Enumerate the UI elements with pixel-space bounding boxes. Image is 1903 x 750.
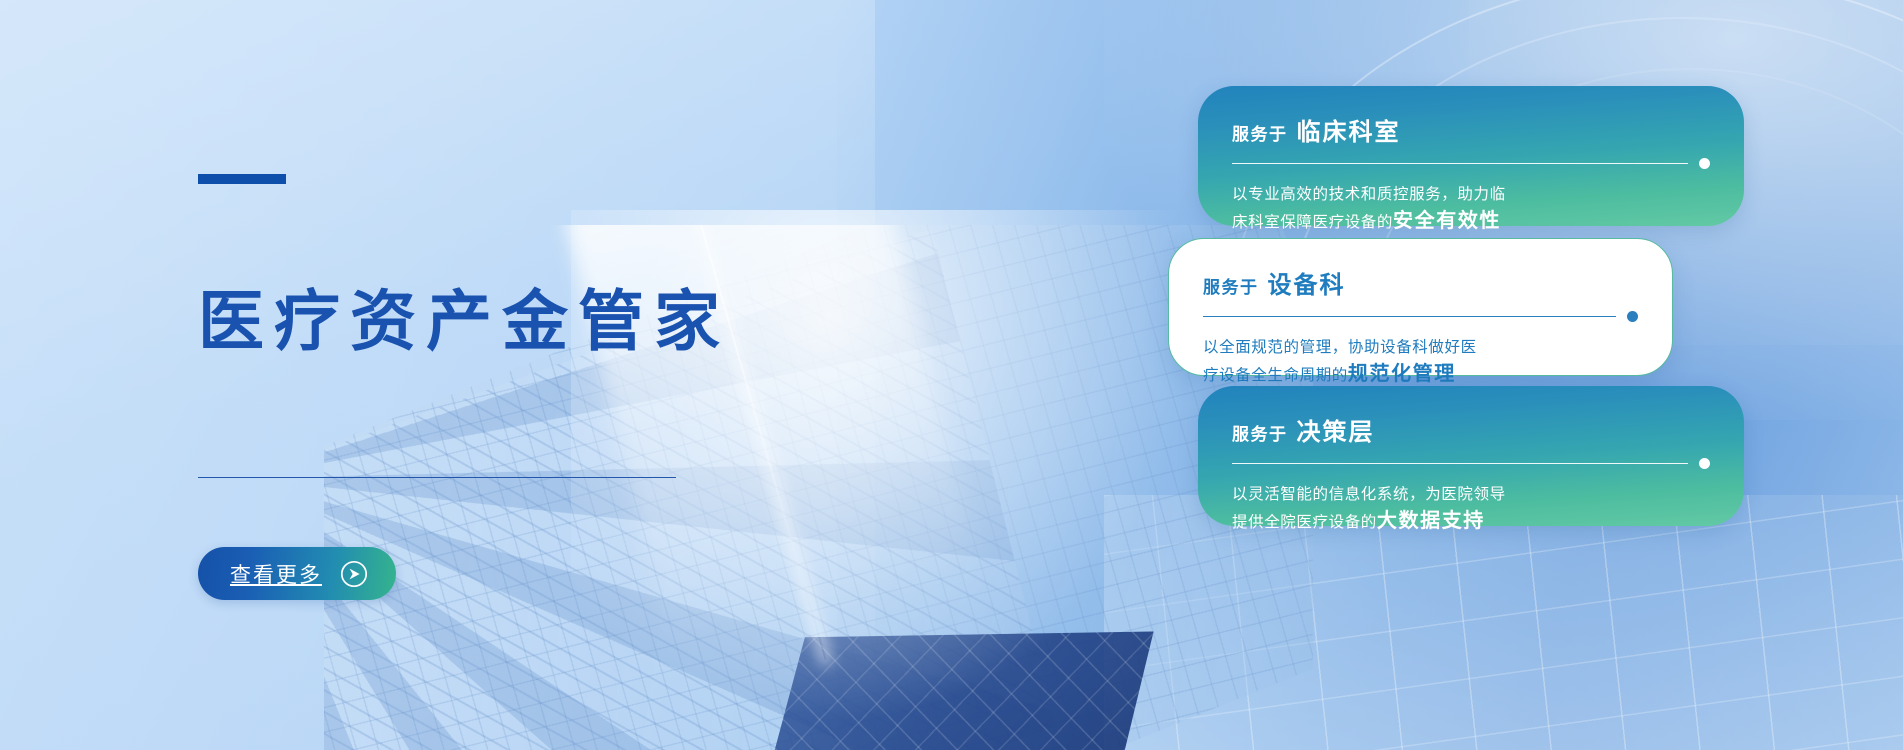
- card-rule: [1232, 158, 1710, 169]
- card-rule-line: [1232, 163, 1688, 164]
- card-body-line-1: 以专业高效的技术和质控服务，助力临: [1232, 182, 1710, 208]
- card-body-line-2: 床科室保障医疗设备的安全有效性: [1232, 208, 1710, 236]
- card-body-emphasis: 安全有效性: [1393, 210, 1501, 232]
- card-body-emphasis: 规范化管理: [1348, 363, 1456, 385]
- card-rule: [1203, 311, 1638, 322]
- card-rule-line: [1203, 316, 1616, 317]
- view-more-label: 查看更多: [230, 559, 322, 589]
- card-body-emphasis: 大数据支持: [1377, 510, 1485, 532]
- arrow-right-circle-icon: [340, 560, 368, 588]
- horizontal-divider: [198, 477, 676, 478]
- card-heading: 服务于 临床科室: [1232, 112, 1710, 147]
- accent-dash: [198, 174, 286, 184]
- card-prefix: 服务于: [1232, 420, 1288, 445]
- card-body-line-2: 疗设备全生命周期的规范化管理: [1203, 361, 1638, 389]
- card-body-line-1: 以灵活智能的信息化系统，为医院领导: [1232, 482, 1710, 508]
- card-prefix: 服务于: [1203, 273, 1259, 298]
- service-cards-group: 服务于 临床科室 以专业高效的技术和质控服务，助力临 床科室保障医疗设备的安全有…: [1168, 0, 1768, 750]
- card-rule: [1232, 458, 1710, 469]
- card-rule-line: [1232, 463, 1688, 464]
- card-target-audience: 设备科: [1268, 265, 1346, 300]
- service-card-device-department[interactable]: 服务于 设备科 以全面规范的管理，协助设备科做好医 疗设备全生命周期的规范化管理: [1168, 238, 1673, 376]
- card-body: 以全面规范的管理，协助设备科做好医 疗设备全生命周期的规范化管理: [1203, 335, 1638, 389]
- card-body-line-2-plain: 疗设备全生命周期的: [1203, 367, 1348, 384]
- card-rule-endpoint-dot: [1627, 311, 1638, 322]
- card-rule-endpoint-dot: [1699, 158, 1710, 169]
- page-title: 医疗资产金管家: [198, 288, 730, 354]
- service-card-decision-layer[interactable]: 服务于 决策层 以灵活智能的信息化系统，为医院领导 提供全院医疗设备的大数据支持: [1198, 386, 1744, 526]
- hero-banner: 医疗资产金管家 查看更多 服务于 临床科室 以专业: [0, 0, 1903, 750]
- view-more-button[interactable]: 查看更多: [198, 547, 396, 600]
- card-prefix: 服务于: [1232, 120, 1288, 145]
- card-body-line-2-plain: 床科室保障医疗设备的: [1232, 214, 1393, 231]
- service-card-clinical[interactable]: 服务于 临床科室 以专业高效的技术和质控服务，助力临 床科室保障医疗设备的安全有…: [1198, 86, 1744, 226]
- card-body: 以灵活智能的信息化系统，为医院领导 提供全院医疗设备的大数据支持: [1232, 482, 1710, 536]
- card-heading: 服务于 决策层: [1232, 412, 1710, 447]
- card-target-audience: 决策层: [1297, 412, 1375, 447]
- card-target-audience: 临床科室: [1297, 112, 1401, 147]
- card-body-line-2-plain: 提供全院医疗设备的: [1232, 514, 1377, 531]
- hero-text-column: 医疗资产金管家 查看更多: [198, 0, 818, 750]
- card-body-line-2: 提供全院医疗设备的大数据支持: [1232, 508, 1710, 536]
- card-rule-endpoint-dot: [1699, 458, 1710, 469]
- card-heading: 服务于 设备科: [1203, 265, 1638, 300]
- card-body-line-1: 以全面规范的管理，协助设备科做好医: [1203, 335, 1638, 361]
- card-body: 以专业高效的技术和质控服务，助力临 床科室保障医疗设备的安全有效性: [1232, 182, 1710, 236]
